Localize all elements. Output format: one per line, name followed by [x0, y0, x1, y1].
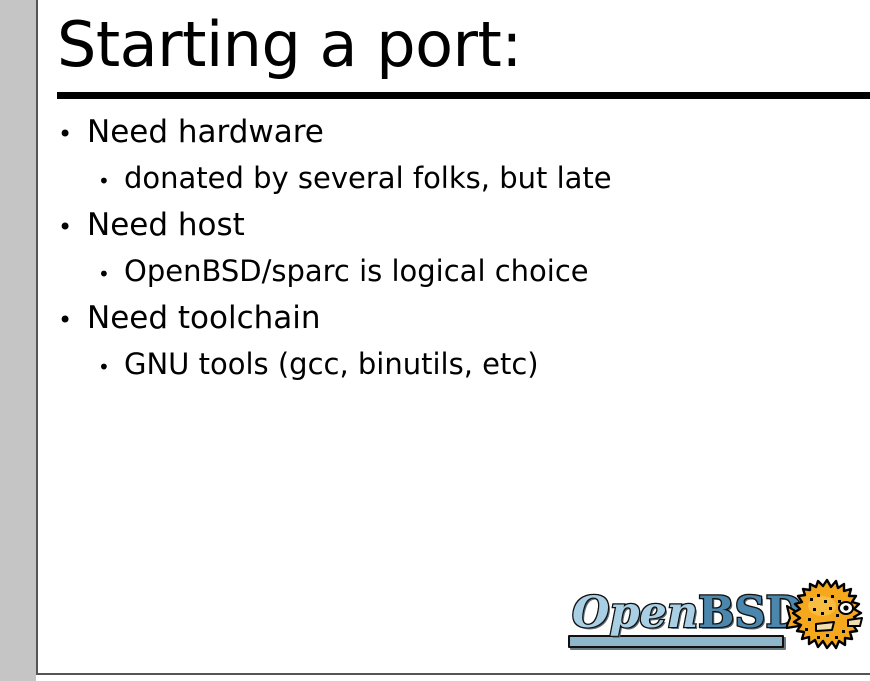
- openbsd-wordmark: OpenBSD: [568, 590, 783, 642]
- bullet-icon: •: [58, 112, 87, 156]
- puffy-blowfish-icon: [786, 576, 868, 662]
- list-item-label: GNU tools (gcc, binutils, etc): [124, 342, 539, 386]
- list-item-label: Need toolchain: [87, 296, 321, 340]
- list-item: • OpenBSD/sparc is logical choice: [38, 249, 870, 296]
- list-item-label: donated by several folks, but late: [124, 156, 612, 200]
- bullet-icon: •: [98, 252, 124, 296]
- title-underline-rule: [57, 92, 870, 99]
- slide-canvas: Starting a port: • Need hardware • donat…: [38, 0, 870, 673]
- bullet-icon: •: [98, 159, 124, 203]
- list-item-label: Need host: [87, 203, 245, 247]
- wordmark-open-text: Open: [572, 588, 698, 638]
- viewer-left-gutter: [0, 0, 36, 681]
- slide-bottom-divider: [36, 673, 870, 675]
- list-item: • Need host: [38, 203, 870, 249]
- bullet-list: • Need hardware • donated by several fol…: [38, 110, 870, 389]
- list-item-label: OpenBSD/sparc is logical choice: [124, 249, 589, 293]
- list-item-label: Need hardware: [87, 110, 324, 154]
- list-item: • Need hardware: [38, 110, 870, 156]
- bullet-icon: •: [98, 345, 124, 389]
- bullet-icon: •: [58, 298, 87, 342]
- list-item: • donated by several folks, but late: [38, 156, 870, 203]
- bullet-icon: •: [58, 205, 87, 249]
- list-item: • GNU tools (gcc, binutils, etc): [38, 342, 870, 389]
- openbsd-logo: OpenBSD: [568, 576, 868, 666]
- page-title: Starting a port:: [57, 14, 522, 76]
- list-item: • Need toolchain: [38, 296, 870, 342]
- presentation-slide: Starting a port: • Need hardware • donat…: [0, 0, 870, 681]
